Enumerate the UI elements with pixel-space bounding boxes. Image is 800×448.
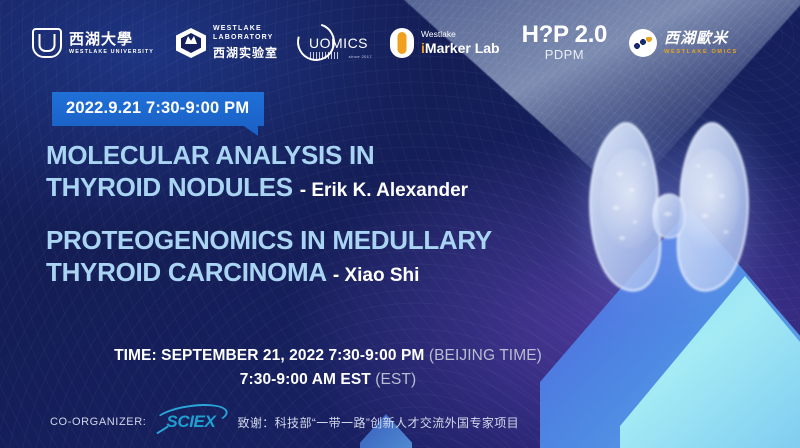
logo-imarker-top: Westlake xyxy=(421,30,500,39)
acknowledgement-text: 致谢：科技部“一带一路”创新人才交流外国专家项目 xyxy=(237,414,519,431)
webinar-poster: 西湖大學 WESTLAKE UNIVERSITY WESTLAKE LABORA… xyxy=(0,0,800,448)
logo-hpp-sub: PDPM xyxy=(522,47,608,63)
talk-2-line1: PROTEOGENOMICS IN MEDULLARY xyxy=(46,225,492,257)
thyroid-gland-illustration xyxy=(560,104,790,319)
omics-dots-icon xyxy=(629,29,657,57)
logo-westlake-university-en: WESTLAKE UNIVERSITY xyxy=(69,49,154,55)
time-est-main: 7:30-9:00 AM EST xyxy=(240,371,371,388)
talk-titles: MOLECULAR ANALYSIS IN THYROID NODULES - … xyxy=(46,140,492,311)
logo-westlake-university[interactable]: 西湖大學 WESTLAKE UNIVERSITY xyxy=(32,28,154,58)
logo-westlake-laboratory-en2: LABORATORY xyxy=(213,34,278,43)
footer-bar: CO-ORGANIZER: SCIEX 致谢：科技部“一带一路”创新人才交流外国… xyxy=(50,412,519,432)
logo-westlake-university-cn: 西湖大學 xyxy=(69,32,154,47)
uomics-bars-icon xyxy=(310,52,340,59)
logo-westlake-laboratory[interactable]: WESTLAKE LABORATORY 西湖实验室 xyxy=(176,25,278,61)
logo-westlake-laboratory-cn: 西湖实验室 xyxy=(213,44,278,61)
date-badge: 2022.9.21 7:30-9:00 PM xyxy=(52,92,264,126)
logo-hpp-pdpm[interactable]: H?P 2.0 PDPM xyxy=(522,23,608,63)
logo-westlake-imarker-lab[interactable]: Westlake iMarker Lab xyxy=(390,28,500,58)
logo-hpp-main: H?P 2.0 xyxy=(522,23,608,47)
talk-2-line2: THYROID CARCINOMA xyxy=(46,257,326,287)
logo-westlake-omics-cn: 西湖歐米 xyxy=(664,31,738,46)
logo-westlake-omics[interactable]: 西湖歐米 WESTLAKE OMICS xyxy=(629,29,738,57)
talk-1-line1: MOLECULAR ANALYSIS IN xyxy=(46,140,492,172)
time-line-beijing: TIME: SEPTEMBER 21, 2022 7:30-9:00 PM (B… xyxy=(48,344,608,368)
time-est-tz: (EST) xyxy=(375,371,416,388)
co-organizer-label: CO-ORGANIZER: xyxy=(50,416,146,428)
wu-shield-icon xyxy=(32,28,62,58)
logo-uomics[interactable]: UOMICS since 2017 xyxy=(300,23,368,63)
logo-uomics-sub: since 2017 xyxy=(349,54,372,59)
hex-lab-icon xyxy=(176,28,206,58)
time-beijing-tz: (BEIJING TIME) xyxy=(429,347,542,364)
time-line-est: 7:30-9:00 AM EST (EST) xyxy=(48,368,608,392)
logo-uomics-text: UOMICS xyxy=(309,35,368,51)
talk-1-speaker: - Erik K. Alexander xyxy=(300,180,468,201)
date-badge-tail-icon xyxy=(242,125,258,136)
date-badge-container: 2022.9.21 7:30-9:00 PM xyxy=(52,92,264,126)
time-block: TIME: SEPTEMBER 21, 2022 7:30-9:00 PM (B… xyxy=(48,344,608,392)
time-beijing-main: TIME: SEPTEMBER 21, 2022 7:30-9:00 PM xyxy=(114,347,424,364)
sciex-logo[interactable]: SCIEX xyxy=(156,412,221,432)
logo-bar: 西湖大學 WESTLAKE UNIVERSITY WESTLAKE LABORA… xyxy=(32,18,780,68)
talk-1: MOLECULAR ANALYSIS IN THYROID NODULES - … xyxy=(46,140,492,203)
talk-2-speaker: - Xiao Shi xyxy=(333,265,420,286)
talk-2-line2-row: THYROID CARCINOMA - Xiao Shi xyxy=(46,257,492,289)
capsule-icon xyxy=(390,28,414,58)
talk-2: PROTEOGENOMICS IN MEDULLARY THYROID CARC… xyxy=(46,225,492,288)
talk-1-line2: THYROID NODULES xyxy=(46,172,293,202)
talk-1-line2-row: THYROID NODULES - Erik K. Alexander xyxy=(46,172,492,204)
logo-imarker-main: iMarker Lab xyxy=(421,40,500,56)
logo-imarker-rest: Marker Lab xyxy=(425,40,500,56)
logo-westlake-laboratory-en1: WESTLAKE xyxy=(213,25,278,34)
logo-westlake-omics-en: WESTLAKE OMICS xyxy=(664,49,738,55)
